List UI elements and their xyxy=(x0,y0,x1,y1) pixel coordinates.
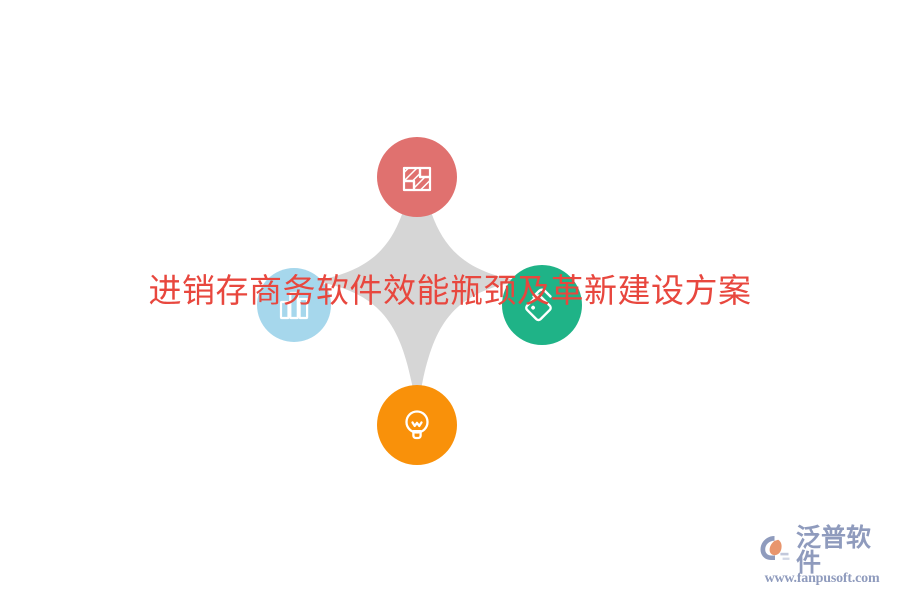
watermark-url: www.fanpusoft.com xyxy=(752,571,892,587)
node-bottom[interactable] xyxy=(377,385,457,465)
node-top[interactable] xyxy=(377,137,457,217)
watermark-brand: 泛普软件 xyxy=(796,525,892,575)
watermark-row: 泛普软件 xyxy=(752,530,892,570)
slide-canvas: 进销存商务软件效能瓶颈及革新建设方案 泛普软件 www.fanpusoft.co… xyxy=(0,0,900,600)
lightbulb-icon xyxy=(396,404,438,446)
fanpu-logo-icon xyxy=(758,532,792,569)
page-title: 进销存商务软件效能瓶颈及革新建设方案 xyxy=(0,271,900,311)
watermark: 泛普软件 www.fanpusoft.com xyxy=(752,530,892,592)
layered-sheets-icon xyxy=(395,155,439,199)
